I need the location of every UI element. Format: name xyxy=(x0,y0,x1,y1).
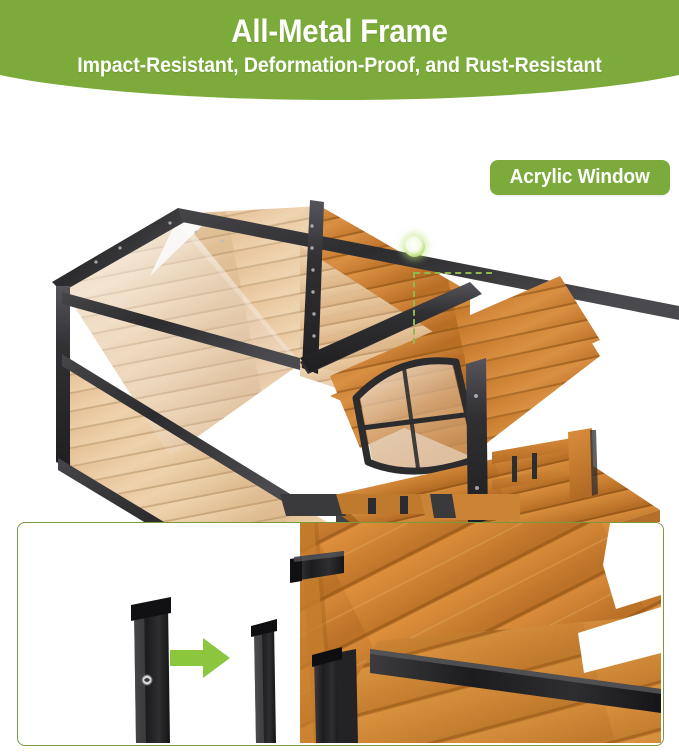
install-direction-arrow xyxy=(170,636,230,680)
frame-post-left-front xyxy=(56,286,70,468)
callout-leader-horizontal xyxy=(414,272,492,274)
metal-channel-face xyxy=(336,649,358,743)
product-image-root: All-Metal Frame Impact-Resistant, Deform… xyxy=(0,0,679,756)
banner-title: All-Metal Frame xyxy=(27,0,652,49)
bleed-post-a xyxy=(368,498,376,514)
arrow-shape xyxy=(170,638,230,678)
callout-point-marker xyxy=(404,236,425,257)
railing-baluster-1 xyxy=(512,456,517,482)
metal-post-loose-highlight xyxy=(134,607,146,743)
banner-text-block: All-Metal Frame Impact-Resistant, Deform… xyxy=(0,0,679,78)
bleed-metal-block xyxy=(280,494,346,516)
railing-baluster-2 xyxy=(532,453,537,479)
hero-overflow-bleed xyxy=(280,494,520,528)
detail-panel xyxy=(17,522,664,746)
bleed-post-b xyxy=(400,496,408,514)
railing-newel-post xyxy=(568,428,594,500)
callout-leader-vertical xyxy=(413,272,415,344)
acrylic-window-callout-badge: Acrylic Window xyxy=(490,160,670,195)
banner-subtitle: Impact-Resistant, Deformation-Proof, and… xyxy=(24,49,655,78)
frame-assembly-illustration xyxy=(18,523,661,743)
callout-label: Acrylic Window xyxy=(510,166,650,189)
bleed-corner-bracket xyxy=(430,494,456,518)
